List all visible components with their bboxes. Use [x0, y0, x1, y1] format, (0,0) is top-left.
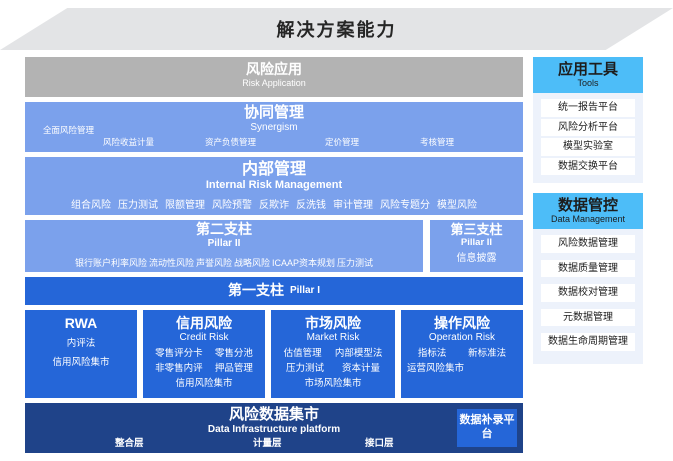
internal-item-3[interactable]: 风险预警: [212, 196, 252, 211]
pillar-three-band[interactable]: 第三支柱 Pillar II 信息披露: [430, 220, 523, 272]
internal-item-4[interactable]: 反欺诈: [259, 196, 289, 211]
pillar-two-band[interactable]: 第二支柱 Pillar II 银行账户利率风险 流动性风险 声誉风险 战略风险 …: [25, 220, 423, 272]
market-line-0: 估值管理 内部模型法: [277, 347, 389, 362]
rwa-line-0: 内评法: [31, 334, 131, 353]
market-title-cn: 市场风险: [305, 315, 361, 331]
internal-management-labels: 内部管理 Internal Risk Management: [25, 161, 523, 191]
risk-application-band[interactable]: 风险应用 Risk Application: [25, 57, 523, 97]
internal-item-5[interactable]: 反洗钱: [296, 196, 326, 211]
credit-line-1: 非零售内评 押品管理: [149, 362, 259, 377]
rwa-line-1: 信用风险集市: [31, 353, 131, 372]
operation-line-1: 运营风险集市: [407, 362, 517, 377]
credit-items: 零售评分卡 零售分池 非零售内评 押品管理 信用风险集市: [143, 347, 265, 391]
synergism-item-3[interactable]: 定价管理: [325, 136, 359, 148]
data-platform-band[interactable]: 风险数据集市 Data Infrastructure platform 整合层 …: [25, 403, 523, 453]
risk-application-title-en: Risk Application: [25, 78, 523, 88]
risk-columns-row: RWA 内评法 信用风险集市 信用风险 Credit Risk 零售评分卡: [25, 310, 523, 398]
right-sidebar: 应用工具 Tools 统一报告平台 风险分析平台 模型实验室 数据交换平台 数据…: [533, 57, 643, 374]
credit-item-4[interactable]: 信用风险集市: [175, 377, 232, 392]
market-items: 估值管理 内部模型法 压力测试 资本计量 市场风险集市: [271, 347, 395, 391]
pillar-three-title-en: Pillar II: [430, 238, 523, 249]
pillar-two-items: 银行账户利率风险 流动性风险 声誉风险 战略风险 ICAAP资本规划 压力测试: [25, 256, 423, 269]
market-item-0[interactable]: 估值管理: [284, 347, 322, 362]
pillar-three-item-0[interactable]: 信息披露: [430, 249, 523, 264]
pillar-two-item-4[interactable]: ICAAP资本规划: [272, 256, 335, 269]
operation-item-0[interactable]: 指标法: [418, 347, 447, 362]
market-item-4[interactable]: 市场风险集市: [304, 377, 361, 392]
data-layer-0[interactable]: 整合层: [115, 435, 144, 449]
tools-title-en: Tools: [577, 78, 598, 88]
synergism-item-2[interactable]: 资产负债管理: [205, 136, 256, 148]
data-management-item-2[interactable]: 数据校对管理: [541, 284, 635, 302]
pillar-two-item-2[interactable]: 声誉风险: [196, 256, 232, 269]
synergism-item-1[interactable]: 风险收益计量: [103, 136, 154, 148]
data-management-items: 风险数据管理 数据质量管理 数据校对管理 元数据管理 数据生命周期管理: [533, 229, 643, 364]
risk-column-market[interactable]: 市场风险 Market Risk 估值管理 内部模型法 压力测试 资本计量 市场…: [271, 310, 395, 398]
internal-management-title-en: Internal Risk Management: [25, 179, 523, 191]
credit-item-2[interactable]: 非零售内评: [155, 362, 203, 377]
pillar-two-item-0[interactable]: 银行账户利率风险: [75, 256, 147, 269]
operation-items: 指标法 新标准法 运营风险集市: [401, 347, 523, 376]
data-platform-title-cn: 风险数据集市: [25, 407, 523, 424]
operation-item-1[interactable]: 新标准法: [468, 347, 506, 362]
pillar-two-item-5[interactable]: 压力测试: [337, 256, 373, 269]
sidebar-group-data-management: 数据管控 Data Management 风险数据管理 数据质量管理 数据校对管…: [533, 193, 643, 364]
internal-item-7[interactable]: 风险专题分: [380, 196, 430, 211]
rwa-title-cn: RWA: [65, 315, 97, 331]
sidebar-group-tools: 应用工具 Tools 统一报告平台 风险分析平台 模型实验室 数据交换平台: [533, 57, 643, 183]
pillar-two-title-cn: 第二支柱: [25, 222, 423, 238]
internal-management-items: 组合风险 压力测试 限额管理 风险预警 反欺诈 反洗钱 审计管理 风险专题分 模…: [25, 196, 523, 211]
solution-capability-diagram: 解决方案能力 风险应用 Risk Application 协同管理 Synerg…: [0, 0, 673, 461]
operation-line-0: 指标法 新标准法: [407, 347, 517, 362]
credit-item-3[interactable]: 押品管理: [215, 362, 253, 377]
internal-item-6[interactable]: 审计管理: [333, 196, 373, 211]
market-item-1[interactable]: 内部模型法: [335, 347, 383, 362]
main-column: 风险应用 Risk Application 协同管理 Synergism 全面风…: [25, 57, 523, 458]
synergism-labels: 协同管理 Synergism: [25, 105, 523, 133]
rwa-items: 内评法 信用风险集市: [25, 334, 137, 372]
internal-management-title-cn: 内部管理: [25, 161, 523, 179]
market-title-en: Market Risk: [307, 331, 360, 344]
internal-item-8[interactable]: 模型风险: [437, 196, 477, 211]
internal-item-0[interactable]: 组合风险: [71, 196, 111, 211]
operation-item-2[interactable]: 运营风险集市: [407, 362, 464, 377]
tools-items: 统一报告平台 风险分析平台 模型实验室 数据交换平台: [533, 93, 643, 183]
data-management-item-4[interactable]: 数据生命周期管理: [541, 333, 635, 351]
internal-item-2[interactable]: 限额管理: [165, 196, 205, 211]
data-management-title-en: Data Management: [551, 214, 625, 224]
risk-application-title-cn: 风险应用: [25, 62, 523, 78]
market-item-3[interactable]: 资本计量: [342, 362, 380, 377]
internal-management-band[interactable]: 内部管理 Internal Risk Management 组合风险 压力测试 …: [25, 157, 523, 215]
synergism-item-4[interactable]: 考核管理: [420, 136, 454, 148]
risk-column-credit[interactable]: 信用风险 Credit Risk 零售评分卡 零售分池 非零售内评 押品管理 信…: [143, 310, 265, 398]
tools-item-3[interactable]: 数据交换平台: [541, 158, 635, 176]
rwa-item-0[interactable]: 内评法: [67, 334, 96, 353]
internal-item-1[interactable]: 压力测试: [118, 196, 158, 211]
credit-item-1[interactable]: 零售分池: [215, 347, 253, 362]
tools-title-cn: 应用工具: [558, 62, 618, 78]
data-platform-labels: 风险数据集市 Data Infrastructure platform: [25, 407, 523, 435]
tools-item-1[interactable]: 风险分析平台: [541, 119, 635, 137]
credit-title-en: Credit Risk: [180, 331, 229, 344]
tools-header[interactable]: 应用工具 Tools: [533, 57, 643, 93]
risk-column-operation[interactable]: 操作风险 Operation Risk 指标法 新标准法 运营风险集市: [401, 310, 523, 398]
operation-title-en: Operation Risk: [429, 331, 495, 344]
synergism-item-0[interactable]: 全面风险管理: [43, 124, 94, 136]
data-layer-1[interactable]: 计量层: [253, 435, 282, 449]
page-title: 解决方案能力: [277, 16, 397, 42]
pillar-one-band[interactable]: 第一支柱 Pillar I: [25, 277, 523, 305]
pillar-row: 第二支柱 Pillar II 银行账户利率风险 流动性风险 声誉风险 战略风险 …: [25, 220, 523, 272]
risk-application-labels: 风险应用 Risk Application: [25, 62, 523, 88]
data-layer-2[interactable]: 接口层: [365, 435, 394, 449]
market-item-2[interactable]: 压力测试: [286, 362, 324, 377]
data-management-item-0[interactable]: 风险数据管理: [541, 235, 635, 253]
credit-item-0[interactable]: 零售评分卡: [155, 347, 203, 362]
data-management-title-cn: 数据管控: [558, 198, 618, 214]
pillar-one-title-cn: 第一支柱: [228, 283, 284, 299]
page-title-banner: 解决方案能力: [0, 8, 673, 50]
synergism-band[interactable]: 协同管理 Synergism 全面风险管理 风险收益计量 资产负债管理 定价管理…: [25, 102, 523, 152]
pillar-two-item-3[interactable]: 战略风险: [234, 256, 270, 269]
operation-title-cn: 操作风险: [434, 315, 490, 331]
data-platform-title-en: Data Infrastructure platform: [25, 424, 523, 435]
data-management-item-3[interactable]: 元数据管理: [541, 309, 635, 327]
risk-column-rwa[interactable]: RWA 内评法 信用风险集市: [25, 310, 137, 398]
credit-line-0: 零售评分卡 零售分池: [149, 347, 259, 362]
synergism-title-en: Synergism: [25, 122, 523, 133]
rwa-item-1[interactable]: 信用风险集市: [52, 353, 109, 372]
data-management-header[interactable]: 数据管控 Data Management: [533, 193, 643, 229]
data-supplement-platform[interactable]: 数据补录平台: [457, 409, 517, 447]
credit-line-2: 信用风险集市: [149, 377, 259, 392]
pillar-two-labels: 第二支柱 Pillar II: [25, 222, 423, 249]
synergism-title-cn: 协同管理: [25, 105, 523, 122]
pillar-two-title-en: Pillar II: [25, 238, 423, 249]
tools-item-0[interactable]: 统一报告平台: [541, 99, 635, 117]
pillar-one-title-en: Pillar I: [290, 285, 320, 296]
market-line-1: 压力测试 资本计量: [277, 362, 389, 377]
data-management-item-1[interactable]: 数据质量管理: [541, 260, 635, 278]
tools-item-2[interactable]: 模型实验室: [541, 138, 635, 156]
credit-title-cn: 信用风险: [176, 315, 232, 331]
pillar-two-item-1[interactable]: 流动性风险: [149, 256, 194, 269]
market-line-2: 市场风险集市: [277, 377, 389, 392]
pillar-three-title-cn: 第三支柱: [430, 223, 523, 238]
